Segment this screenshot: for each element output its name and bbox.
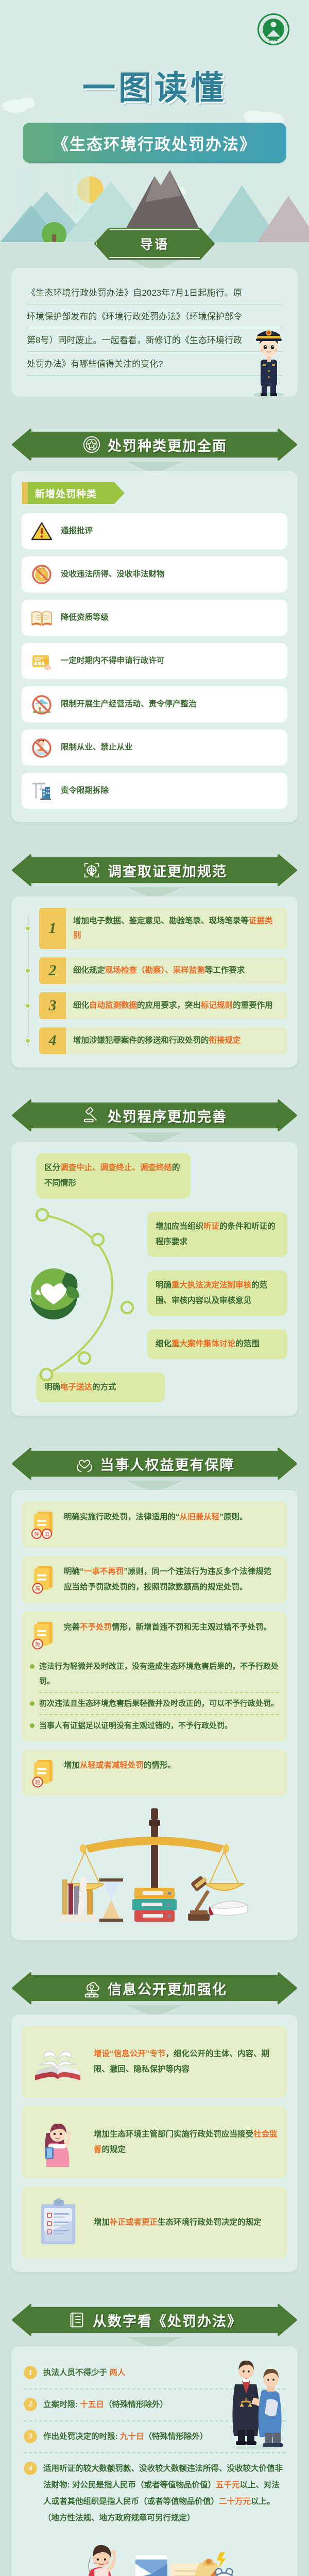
highlighted-text: 电子送达 (60, 1383, 92, 1392)
intro-banner-label: 导语 (140, 234, 169, 253)
evidence-item-text: 增加电子数据、鉴定意见、勘验笔录、现场笔录等证据类别 (66, 908, 287, 949)
plain-text: 明确“ (64, 1567, 84, 1576)
section-banner-label: 处罚种类更加全面 (108, 435, 227, 455)
section-banner-disclosure: 信息公开更加强化 (11, 1971, 298, 2005)
highlighted-text: 标记规则 (201, 1001, 233, 1010)
numbers-item-text: 作出处罚决定的时限: 九十日（特殊情形除外） (43, 2429, 279, 2445)
officer-avatar-illustration (248, 319, 289, 397)
section-banner-evidence: 调查取证更加规范 (11, 853, 298, 887)
section-banner-penalty-types: 处罚种类更加全面 (11, 428, 298, 462)
evidence-item[interactable]: 2 细化规定现场检查（勘察）、采样监测等工作要求 (39, 957, 287, 984)
svg-text:轻: 轻 (35, 1779, 40, 1786)
evidence-item-number: 2 (39, 957, 66, 984)
star-badge-icon (82, 435, 101, 454)
svg-text:旧: 旧 (44, 1532, 49, 1537)
plain-text: 的范围 (235, 1340, 260, 1348)
numbers-item-index: 4 (24, 2462, 37, 2475)
section-banner-procedure: 处罚程序更加完善 (11, 1098, 298, 1132)
warning-triangle-icon (30, 519, 54, 543)
timeline-dot (25, 1038, 31, 1044)
rights-subitem-text: 初次违法且生态环境危害后果轻微并及时改正的，可以不予行政处罚。 (39, 1696, 279, 1711)
penalty-item[interactable]: ¥ 没收违法所得、没收非法财物 (22, 556, 287, 592)
highlighted-text: 听证 (203, 1222, 219, 1231)
evidence-item-number: 1 (39, 908, 66, 949)
highlighted-text: 现场检查（勘察）、采样监测 (105, 966, 205, 975)
section-banner-label: 处罚程序更加完善 (108, 1106, 227, 1126)
rights-subitem-text: 当事人有证据足以证明没有主观过错的，不予行政处罚。 (39, 1718, 232, 1733)
procedure-bubble[interactable]: 增加应当组织听证的条件和听证的程序要求 (147, 1212, 287, 1257)
highlighted-text: 自动监测数据 (89, 1001, 137, 1010)
penalty-item-label: 一定时期内不得申请行政许可 (61, 655, 165, 667)
highlighted-text: 重大案件集体讨论 (171, 1340, 235, 1348)
rights-card: 轻 旧 明确实施行政处罚，法律适用的“从旧兼从轻”原则。 高 明确“一事不再罚”… (11, 1490, 298, 1940)
highlighted-text: 二十万元 (219, 2497, 251, 2506)
disclosure-item-text: 增加补正或者更正生态环境行政处罚决定的规定 (94, 2215, 278, 2230)
evidence-item-number: 4 (39, 1027, 66, 1054)
emblem-label: MEE (259, 38, 288, 42)
numbers-item-text: 执法人员不得少于 两人 (43, 2365, 224, 2381)
timeline-dot (25, 1003, 31, 1009)
penalty-item[interactable]: 一定时期内不得申请行政许可 (22, 643, 287, 679)
evidence-card: 1 增加电子数据、鉴定意见、勘验笔录、现场笔录等证据类别 2 细化规定现场检查（… (11, 896, 298, 1067)
plain-text: 增加涉嫌犯罪案件的移送和行政处罚的 (73, 1036, 209, 1045)
rights-subitem-text: 违法行为轻微并及时改正，没有造成生态环境危害后果的，不予行政处罚。 (39, 1659, 279, 1689)
plain-text: 的应用要求，突出 (137, 1001, 201, 1010)
highlighted-text: 重大执法决定法制审核 (171, 1281, 251, 1290)
plain-text: （特殊情形除外） (104, 2400, 168, 2409)
numbers-item-text: 适用听证的较大数额罚款、没收较大数额违法所得、没收较大价值非法财物: 对公民是指… (43, 2461, 285, 2527)
procedure-card: 区分调查中止、调查终止、调查终结的不同情形 增加应当组织听证的条件和听证的程序要… (11, 1142, 298, 1416)
plain-text: 的情形。 (144, 1761, 176, 1770)
evidence-item-number: 3 (39, 992, 66, 1019)
highlighted-text: 不予处罚 (80, 1623, 112, 1632)
penalty-item-label: 降低资质等级 (61, 612, 109, 623)
evidence-item[interactable]: 4 增加涉嫌犯罪案件的移送和行政处罚的衔接规定 (39, 1027, 287, 1054)
highlighted-text: 增设“信息公开”专节 (94, 2049, 166, 2058)
penalty-item[interactable]: 限制开展生产经营活动、责令停产整治 (22, 686, 287, 722)
plain-text: 增加应当组织 (156, 1222, 203, 1231)
penalty-item-label: 责令限期拆除 (61, 785, 109, 796)
page-title: 一图读懂 (0, 62, 309, 109)
rights-item[interactable]: 高 明确“一事不再罚”原则，同一个违法行为违反多个法律规范应当给予罚款处罚的，按… (22, 1556, 287, 1603)
plain-text: 明确实施行政处罚，法律适用的“ (64, 1513, 180, 1521)
no-factory-icon (30, 692, 54, 716)
plain-text: 立案时限: (43, 2400, 80, 2409)
highlighted-text: 从轻或者减轻处罚 (80, 1761, 144, 1770)
plain-text: 细化规定 (73, 966, 105, 975)
plain-text: 细化 (73, 1001, 89, 1010)
highlighted-text: 调查中止、调查终止、调查终结 (60, 1163, 172, 1172)
rights-item-text: 明确实施行政处罚，法律适用的“从旧兼从轻”原则。 (64, 1510, 279, 1525)
numbers-item[interactable]: 2 立案时限: 十五日（特殊情形除外） (22, 2389, 287, 2420)
evidence-item-text: 增加涉嫌犯罪案件的移送和行政处罚的衔接规定 (66, 1027, 287, 1054)
section-banner-label: 当事人权益更有保障 (100, 1454, 235, 1474)
license-card-icon (30, 649, 54, 673)
highlighted-text: 从旧兼从轻 (180, 1513, 220, 1521)
procedure-bubble[interactable]: 明确重大执法决定法制审核的范围、审核内容以及审核意见 (147, 1270, 287, 1316)
plain-text: 完善 (64, 1623, 80, 1632)
plain-text: （特殊情形除外） (144, 2432, 208, 2441)
target-scan-icon (82, 860, 101, 880)
svg-text:免: 免 (35, 1641, 40, 1648)
disclosure-item[interactable]: 增加生态环境主管部门实施行政处罚应当接受社会监督的规定 (22, 2106, 287, 2178)
timeline-dot (25, 968, 31, 974)
penalty-item[interactable]: 责令限期拆除 (22, 773, 287, 809)
section-banner-rights: 当事人权益更有保障 (11, 1447, 298, 1481)
penalty-sublabel-text: 新增处罚种类 (28, 482, 114, 504)
infographic-page: MEE 一图读懂 《生态环境行政处罚办法》 导语 《生态环境行政处罚办法》自20… (0, 0, 309, 2576)
disclosure-item-text: 增加生态环境主管部门实施行政处罚应当接受社会监督的规定 (94, 2127, 278, 2158)
plain-text: ”原则。 (219, 1513, 247, 1521)
mee-emblem-icon: MEE (257, 13, 289, 45)
doc-stamp-badge-icon: 轻 (30, 1758, 57, 1788)
penalty-types-card: 新增处罚种类 通报批评 ¥ 没收违法所得、没收非法财物 (11, 471, 298, 822)
evidence-item-text: 细化规定现场检查（勘察）、采样监测等工作要求 (66, 957, 287, 984)
doc-stamp-badge-icon: 轻 旧 (30, 1510, 57, 1539)
section-banner-label: 信息公开更加强化 (108, 1978, 227, 1998)
no-money-icon: ¥ (30, 563, 54, 586)
section-banner-label: 调查取证更加规范 (108, 860, 227, 880)
plain-text: 增加 (94, 2218, 110, 2227)
numbers-item-index: 2 (24, 2398, 37, 2411)
rights-item[interactable]: 轻 增加从轻或者减轻处罚的情形。 (22, 1750, 287, 1796)
plain-text: 增加电子数据、鉴定意见、勘验笔录、现场笔录等 (73, 917, 249, 925)
disclosure-item[interactable]: 增设“信息公开”专节，细化公开的主体、内容、期限、撤回、隐私保护等内容 (22, 2026, 287, 2098)
numbers-item[interactable]: 4 适用听证的较大数额罚款、没收较大数额违法所得、没收较大价值非法财物: 对公民… (22, 2453, 287, 2534)
penalty-item[interactable]: 限制从业、禁止从业 (22, 730, 287, 766)
plain-text: 的重要作用 (233, 1001, 273, 1010)
woman-desk-money-illustration (22, 2534, 287, 2576)
evidence-item-text: 细化自动监测数据的应用要求，突出标记规则的重要作用 (66, 992, 287, 1019)
rights-item[interactable]: 轻 旧 明确实施行政处罚，法律适用的“从旧兼从轻”原则。 (22, 1501, 287, 1548)
highlighted-text: 一事不再罚 (84, 1567, 124, 1576)
disclosure-card: 增设“信息公开”专节，细化公开的主体、内容、期限、撤回、隐私保护等内容 增加生态… (11, 2014, 298, 2272)
highlighted-text: 衔接规定 (209, 1036, 241, 1045)
penalty-item[interactable]: 降低资质等级 (22, 600, 287, 636)
plain-text: 的规定 (102, 2145, 126, 2154)
rights-item-text: 完善不予处罚情形，新增首违不罚和无主观过错不予处罚。 (64, 1620, 279, 1635)
rights-item-text: 增加从轻或者减轻处罚的情形。 (64, 1758, 279, 1773)
plain-text: 生态环境行政处罚决定的规定 (158, 2218, 262, 2227)
plain-text: 明确 (44, 1383, 60, 1392)
clipboard-checklist-illustration (31, 2196, 84, 2249)
plain-text: 等工作要求 (205, 966, 245, 975)
rights-subitem: 违法行为轻微并及时改正，没有造成生态环境危害后果的，不予行政处罚。 (30, 1659, 279, 1689)
plain-text: 情形，新增首违不罚和无主观过错不予处罚。 (112, 1623, 271, 1632)
no-worker-icon (30, 736, 54, 759)
doc-stamp-badge-icon: 免 (30, 1620, 57, 1650)
highlighted-text: 十五日 (80, 2400, 104, 2409)
penalty-item-label: 通报批评 (61, 526, 93, 537)
svg-text:轻: 轻 (34, 1531, 39, 1537)
cloud-network-idea-icon (82, 1978, 101, 1998)
plain-text: 增加 (64, 1761, 80, 1770)
rights-subitem: 当事人有证据足以证明没有主观过错的，不予行政处罚。 (30, 1718, 279, 1733)
plain-text: 作出处罚决定的时限: (43, 2432, 120, 2441)
numbers-card: 1 执法人员不得少于 两人 2 立案时限: 十五日（特殊情形除外） 3 作出处罚… (11, 2346, 298, 2576)
plain-text: 明确 (156, 1281, 171, 1290)
hands-heart-icon (75, 1454, 94, 1473)
disclosure-item[interactable]: 增加补正或者更正生态环境行政处罚决定的规定 (22, 2187, 287, 2259)
book-lines-icon (67, 2310, 87, 2330)
crane-demolition-icon (30, 779, 54, 803)
penalty-item-label: 限制从业、禁止从业 (61, 742, 133, 753)
svg-text:高: 高 (35, 1585, 40, 1592)
recycle-heart-leaf-icon (23, 1261, 90, 1328)
page-subtitle: 《生态环境行政处罚办法》 (23, 123, 286, 163)
penalty-sublabel: 新增处罚种类 (22, 482, 287, 504)
timeline-dot (25, 925, 31, 931)
procedure-bubble[interactable]: 细化重大案件集体讨论的范围 (147, 1329, 287, 1359)
numbers-item-text: 立案时限: 十五日（特殊情形除外） (43, 2397, 224, 2413)
open-book-icon (30, 606, 54, 630)
justice-scale-illustration (22, 1798, 287, 1927)
plain-text: 增加生态环境主管部门实施行政处罚应当接受 (94, 2130, 253, 2139)
numbers-item[interactable]: 1 执法人员不得少于 两人 (22, 2358, 287, 2388)
rights-item-text: 明确“一事不再罚”原则，同一个违法行为违反多个法律规范应当给予罚款处罚的，按照罚… (64, 1564, 279, 1595)
numbers-item[interactable]: 3 作出处罚决定的时限: 九十日（特殊情形除外） (22, 2421, 287, 2452)
rights-item[interactable]: 免 完善不予处罚情形，新增首违不罚和无主观过错不予处罚。 违法行为轻微并及时改正… (22, 1612, 287, 1741)
penalty-item-label: 没收违法所得、没收非法财物 (61, 569, 165, 580)
section-banner-numbers: 从数字看《处罚办法》 (11, 2303, 298, 2337)
disclosure-item-text: 增设“信息公开”专节，细化公开的主体、内容、期限、撤回、隐私保护等内容 (94, 2046, 278, 2077)
open-book-illustration (31, 2035, 84, 2089)
intro-text: 《生态环境行政处罚办法》自2023年7月1日起施行。原环境保护部发布的《环境行政… (27, 281, 282, 376)
hero-header: MEE 一图读懂 《生态环境行政处罚办法》 (0, 0, 309, 242)
rights-subitem: 初次违法且生态环境危害后果轻微并及时改正的，可以不予行政处罚。 (30, 1696, 279, 1711)
plain-text: 的方式 (92, 1383, 116, 1392)
highlighted-text: 补正或者更正 (110, 2218, 158, 2227)
evidence-item[interactable]: 1 增加电子数据、鉴定意见、勘验笔录、现场笔录等证据类别 (39, 908, 287, 949)
woman-pointing-illustration (31, 2115, 84, 2169)
intro-banner: 导语 (94, 228, 215, 260)
penalty-item-label: 限制开展生产经营活动、责令停产整治 (61, 699, 197, 710)
highlighted-text: 两人 (109, 2368, 125, 2377)
intro-card: 《生态环境行政处罚办法》自2023年7月1日起施行。原环境保护部发布的《环境行政… (11, 268, 298, 397)
penalty-item[interactable]: 通报批评 (22, 513, 287, 549)
plain-text: 细化 (156, 1340, 171, 1348)
gavel-icon (82, 1106, 101, 1125)
highlighted-text: 九十日 (120, 2432, 144, 2441)
procedure-bubble[interactable]: 区分调查中止、调查终止、调查终结的不同情形 (36, 1153, 191, 1198)
plain-text: 区分 (44, 1163, 60, 1172)
numbers-item-index: 3 (24, 2430, 37, 2443)
section-banner-label: 从数字看《处罚办法》 (93, 2310, 242, 2330)
numbers-item-index: 1 (24, 2366, 37, 2379)
highlighted-text: 五千元 (216, 2481, 240, 2489)
procedure-bubble[interactable]: 明确电子送达的方式 (36, 1372, 165, 1402)
doc-stamp-badge-icon: 高 (30, 1564, 57, 1594)
evidence-item[interactable]: 3 细化自动监测数据的应用要求，突出标记规则的重要作用 (39, 992, 287, 1019)
plain-text: 执法人员不得少于 (43, 2368, 109, 2377)
